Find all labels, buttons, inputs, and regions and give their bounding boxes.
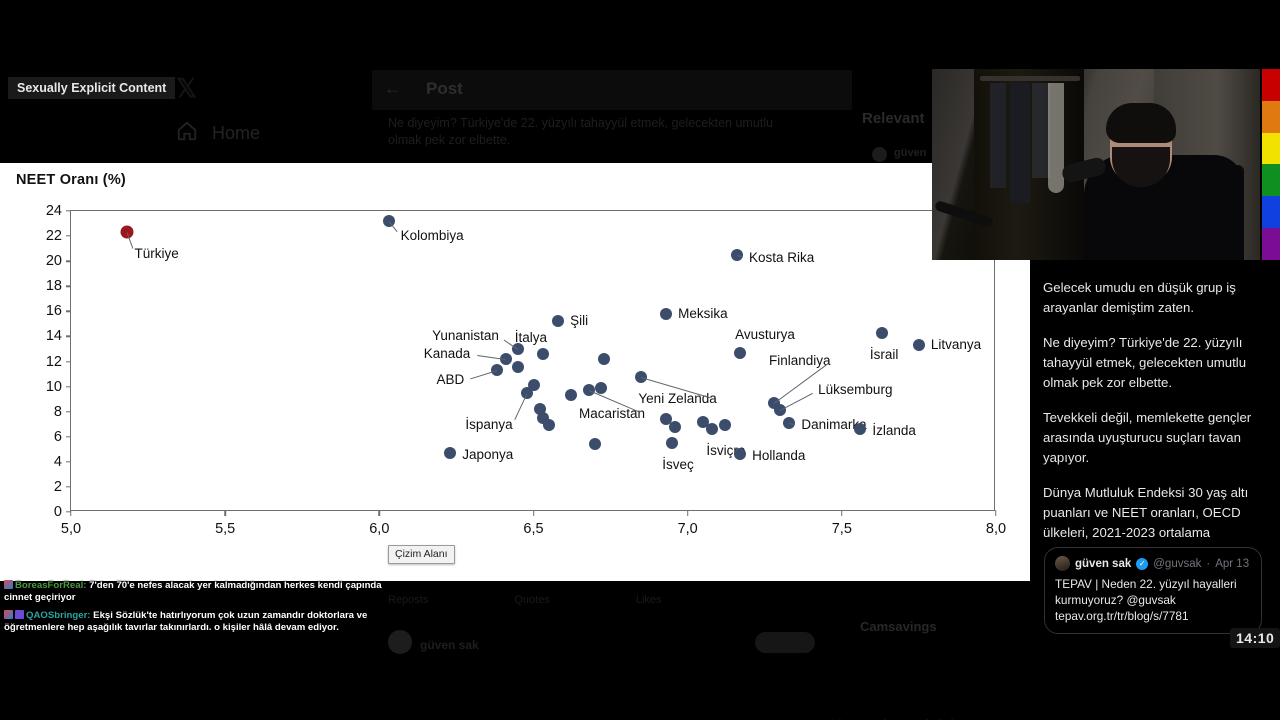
scatter-chart-panel: NEET Oranı (%) 0246810121416182022245,05… — [0, 163, 1030, 581]
y-axis-tick: 14 — [46, 328, 71, 344]
verified-badge-icon: ✓ — [1136, 558, 1148, 570]
tweet-paragraph-3: Dünya Mutluluk Endeksi 30 yaş altı puanl… — [1043, 483, 1269, 543]
data-point-litvanya[interactable] — [913, 339, 925, 351]
y-axis-tick: 2 — [54, 479, 71, 495]
x-axis-tick: 6,5 — [523, 510, 543, 537]
background-tweet-preview: Ne diyeyim? Türkiye'de 22. yüzyılı tahay… — [388, 115, 808, 149]
rainbow-band-1 — [1262, 101, 1280, 133]
data-point-label: Şili — [570, 314, 588, 328]
y-axis-tick: 10 — [46, 379, 71, 395]
y-axis-tick: 4 — [54, 454, 71, 470]
data-point-label: İspanya — [465, 418, 512, 432]
y-axis-tick: 12 — [46, 354, 71, 370]
data-point--ili[interactable] — [552, 315, 564, 327]
tweet-body-text: Gelecek umudu en düşük grup iş arayanlar… — [1043, 278, 1269, 558]
data-point-i-talya[interactable] — [537, 348, 549, 360]
x-axis-tick: 8,0 — [986, 510, 1006, 537]
plot-area-tooltip: Çizim Alanı — [388, 545, 455, 564]
back-arrow-icon[interactable]: ← — [384, 80, 402, 98]
x-axis-tick: 5,0 — [61, 510, 81, 537]
x-axis-tick: 7,5 — [832, 510, 852, 537]
data-point-hollanda[interactable] — [734, 448, 746, 460]
background-reply-name: güven sak — [420, 638, 479, 652]
data-point-i-svi-re[interactable] — [706, 423, 718, 435]
background-engagement-stats: Reposts Quotes Likes — [388, 594, 908, 606]
data-point-i-sve-[interactable] — [666, 437, 678, 449]
background-relevant-heading: Relevant — [862, 110, 925, 127]
chat-username[interactable]: QAOSbringer: — [26, 610, 93, 621]
chart-title: NEET Oranı (%) — [16, 172, 126, 188]
chat-badge-icon — [15, 610, 24, 619]
data-point[interactable] — [595, 382, 607, 394]
quoted-separator: · — [1206, 558, 1210, 570]
x-logo-icon[interactable]: 𝕏 — [176, 74, 204, 102]
data-point-avusturya[interactable] — [734, 347, 746, 359]
y-axis-tick: 24 — [46, 203, 71, 219]
home-icon — [176, 120, 198, 147]
stat-likes: Likes — [636, 594, 662, 606]
quoted-author-handle: @guvsak — [1153, 558, 1201, 570]
stat-quotes: Quotes — [514, 594, 549, 606]
chat-badge-icon — [4, 610, 13, 619]
chat-badge-icon — [4, 580, 13, 589]
chat-message: QAOSbringer: Ekşi Sözlük'te hatırlıyorum… — [4, 610, 404, 633]
background-post-title: Post — [426, 79, 463, 99]
rainbow-band-3 — [1262, 164, 1280, 196]
data-point-label: Kosta Rika — [749, 251, 814, 265]
data-point-label: Meksika — [678, 307, 728, 321]
data-point-label: İsrail — [870, 348, 899, 362]
data-point[interactable] — [565, 389, 577, 401]
data-point[interactable] — [512, 361, 524, 373]
content-warning-badge: Sexually Explicit Content — [8, 77, 175, 99]
data-point-label: Hollanda — [752, 449, 805, 463]
background-relevant-name: güven — [894, 147, 926, 159]
data-point[interactable] — [543, 419, 555, 431]
tweet-paragraph-2: Tevekkeli değil, memlekette gençler aras… — [1043, 408, 1269, 468]
avatar — [1055, 556, 1070, 571]
data-point[interactable] — [598, 353, 610, 365]
quoted-date: Apr 13 — [1215, 558, 1249, 570]
webcam-feed — [932, 69, 1260, 260]
data-point-label: İsveç — [662, 458, 694, 472]
quoted-author-name: güven sak — [1075, 558, 1131, 570]
label-leader-line — [514, 393, 527, 420]
rainbow-color-strip — [1262, 69, 1280, 260]
rainbow-band-0 — [1262, 69, 1280, 101]
tweet-paragraph-1: Ne diyeyim? Türkiye'de 22. yüzyılı tahay… — [1043, 333, 1269, 393]
stream-screen: ← Post 𝕏 Home Ne diyeyim? Türkiye'de 22.… — [0, 0, 1280, 720]
data-point[interactable] — [719, 419, 731, 431]
data-point-japonya[interactable] — [444, 447, 456, 459]
tweet-paragraph-0: Gelecek umudu en düşük grup iş arayanlar… — [1043, 278, 1269, 318]
x-axis-tick: 6,0 — [369, 510, 389, 537]
stream-timer: 14:10 — [1230, 628, 1280, 648]
data-point-i-srail[interactable] — [876, 327, 888, 339]
data-point-label: Avusturya — [735, 328, 795, 342]
chat-message: BoreasForReal: 7'den 70'e nefes alacak y… — [4, 580, 404, 603]
data-point-label: Lüksemburg — [818, 383, 892, 397]
chart-x-axis-label: 30 yaş altı mutluluk oranı — [829, 716, 996, 720]
rainbow-band-2 — [1262, 133, 1280, 165]
data-point[interactable] — [528, 379, 540, 391]
sidebar-item-home-label: Home — [212, 123, 260, 144]
sidebar-item-home[interactable]: Home — [176, 120, 260, 147]
rainbow-band-4 — [1262, 196, 1280, 228]
data-point-label: Finlandiya — [769, 354, 831, 368]
chat-overlay: BoreasForReal: 7'den 70'e nefes alacak y… — [4, 580, 404, 640]
tweet-detail-panel: Gelecek umudu en düşük grup iş arayanlar… — [1030, 260, 1280, 660]
plot-area[interactable]: 0246810121416182022245,05,56,06,57,07,58… — [70, 210, 995, 511]
data-point-label: Yunanistan — [432, 329, 499, 343]
data-point-label: İtalya — [515, 331, 547, 345]
data-point-label: Litvanya — [931, 338, 981, 352]
data-point[interactable] — [669, 421, 681, 433]
data-point-i-zlanda[interactable] — [854, 423, 866, 435]
data-point-label: Kanada — [424, 347, 471, 361]
data-point-label: Yeni Zelanda — [638, 392, 716, 406]
quoted-tweet-card[interactable]: güven sak ✓ @guvsak · Apr 13 TEPAV | Ned… — [1044, 547, 1262, 634]
y-axis-tick: 16 — [46, 303, 71, 319]
background-camsavings-label: Camsavings — [860, 619, 937, 634]
quoted-tweet-header: güven sak ✓ @guvsak · Apr 13 — [1055, 556, 1251, 571]
data-point-label: Japonya — [462, 448, 513, 462]
data-point-label: Kolombiya — [401, 229, 464, 243]
y-axis-tick: 20 — [46, 253, 71, 269]
y-axis-tick: 18 — [46, 278, 71, 294]
chat-username[interactable]: BoreasForReal: — [15, 580, 89, 591]
avatar — [872, 147, 887, 162]
data-point-label: İzlanda — [872, 424, 916, 438]
x-axis-tick: 7,0 — [678, 510, 698, 537]
data-point[interactable] — [697, 416, 709, 428]
y-axis-tick: 22 — [46, 228, 71, 244]
x-axis-tick: 5,5 — [215, 510, 235, 537]
y-axis-tick: 6 — [54, 429, 71, 445]
reply-button[interactable] — [755, 632, 815, 653]
data-point-label: Türkiye — [135, 247, 179, 261]
data-point-label: ABD — [437, 373, 465, 387]
quoted-tweet-body: TEPAV | Neden 22. yüzyıl hayalleri kurmu… — [1055, 576, 1251, 624]
data-point-meksika[interactable] — [660, 308, 672, 320]
rainbow-band-5 — [1262, 228, 1280, 260]
y-axis-tick: 8 — [54, 404, 71, 420]
data-point[interactable] — [589, 438, 601, 450]
